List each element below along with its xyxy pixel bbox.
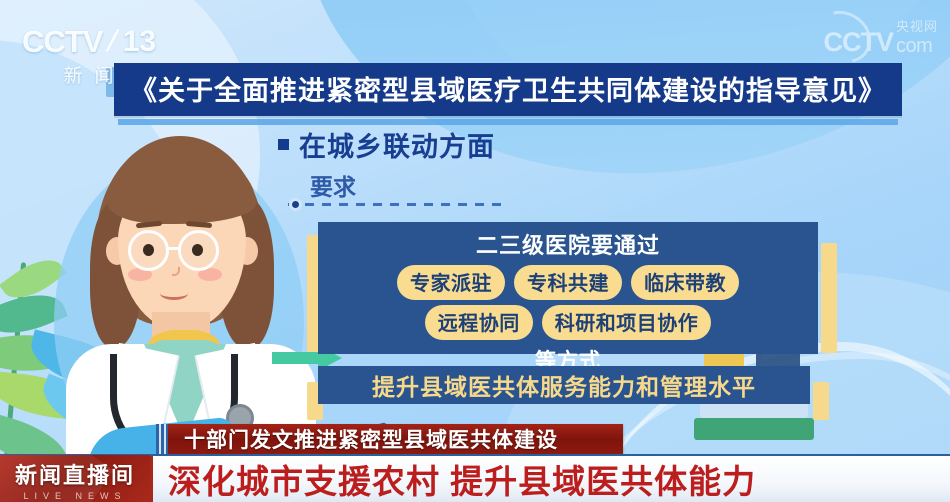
document-title: 《关于全面推进紧密型县域医疗卫生共同体建设的指导意见》 [114,63,902,116]
document-title-block: 《关于全面推进紧密型县域医疗卫生共同体建设的指导意见》 [114,63,902,125]
watermark-cn-text: 央视网 [896,16,938,35]
broadcast-screen: CCTV / 13 新闻 CCTV 央视网 com [0,0,950,502]
channel-logo: CCTV / 13 新闻 [22,24,157,88]
channel-logo-slash-icon: / [104,25,121,59]
book-shape [694,418,814,440]
channel-logo-cctv-text: CCTV [22,24,102,60]
watermark-com-text: com [896,35,932,58]
sub-banner-ticks [156,424,168,454]
section-bullet-row: 在城乡联动方面 [278,125,495,164]
methods-card: 二三级医院要通过 专家派驻 专科共建 临床带教 远程协同 科研和项目协作 等方式 [318,222,818,354]
channel-logo-row: CCTV / 13 [22,24,157,60]
program-name-en: LIVE NEWS [23,491,126,501]
method-pill: 远程协同 [425,305,533,340]
doctor-eye-right [192,244,203,256]
lower-third-headline: 深化城市支援农村 提升县域医共体能力 [150,455,950,502]
doctor-glasses-bridge [168,247,180,250]
lower-third-bar: 新闻直播间 LIVE NEWS 深化城市支援农村 提升县域医共体能力 [0,454,950,502]
sub-banner-label: 十部门发文推进紧密型县域医共体建设 [168,424,558,454]
doctor-mouth [160,287,188,300]
watermark-right-block: 央视网 com [896,16,938,58]
program-logo: 新闻直播间 LIVE NEWS [0,455,150,502]
program-name-cn: 新闻直播间 [15,458,135,490]
program-logo-edge [150,456,153,502]
result-card-label: 提升县域医共体服务能力和管理水平 [372,368,756,402]
result-accent-right [813,382,829,420]
channel-logo-subtitle: 新闻 [22,61,157,88]
document-title-underline [118,119,898,125]
bullet-square-icon [278,139,289,150]
method-pill: 临床带教 [631,265,739,300]
connector-node-icon [289,198,302,211]
dotted-connector [288,203,503,206]
channel-logo-number: 13 [123,25,156,59]
sub-banner: 十部门发文推进紧密型县域医共体建设 [168,424,623,454]
method-pill: 专科共建 [514,265,622,300]
methods-pill-row-2: 远程协同 科研和项目协作 [330,305,806,340]
section-bullet-label: 在城乡联动方面 [299,125,495,164]
result-card: 提升县域医共体服务能力和管理水平 [318,366,810,404]
card-accent-right [821,243,837,353]
cctv-com-watermark: CCTV 央视网 com [823,16,938,58]
method-pill: 专家派驻 [397,265,505,300]
requirement-label: 要求 [310,168,356,202]
methods-card-heading: 二三级医院要通过 [330,228,806,260]
arrow-shaft [272,352,324,364]
methods-pill-row-1: 专家派驻 专科共建 临床带教 [330,265,806,300]
doctor-eye-left [143,244,154,256]
method-pill: 科研和项目协作 [542,305,712,340]
